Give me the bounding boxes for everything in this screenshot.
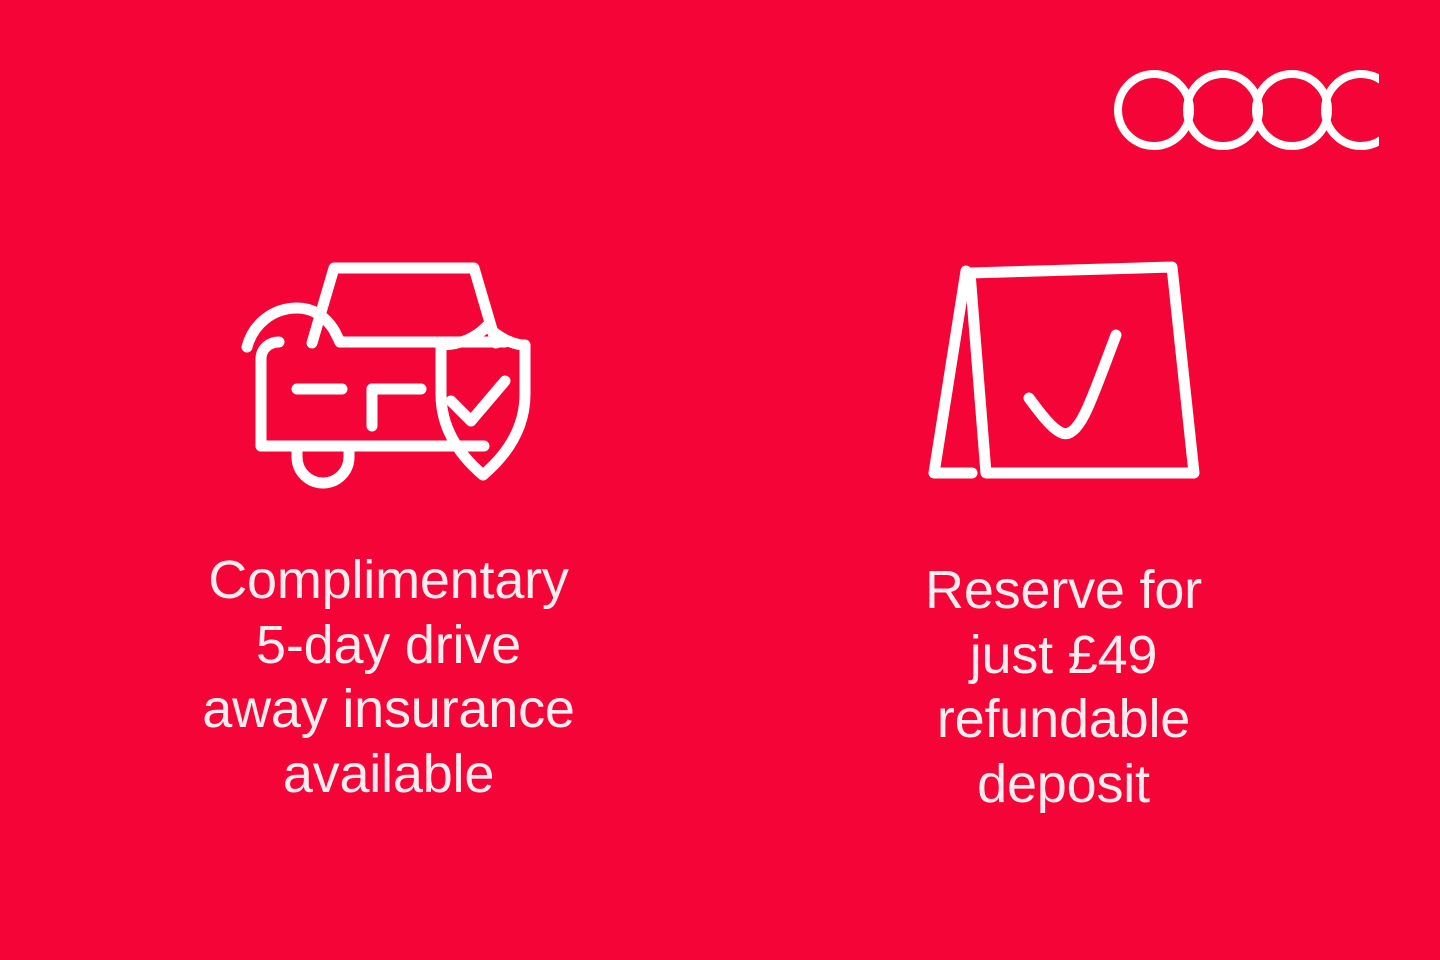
car-shield-insurance-icon (239, 244, 539, 490)
feature-list: Complimentary 5-day drive away insurance… (0, 0, 1440, 960)
folded-card-checkmark-icon (926, 250, 1202, 496)
feature-item: Reserve for just £49 refundable deposit (829, 0, 1299, 816)
feature-item: Complimentary 5-day drive away insurance… (154, 0, 624, 806)
promo-banner: Complimentary 5-day drive away insurance… (0, 0, 1440, 960)
feature-caption: Reserve for just £49 refundable deposit (925, 558, 1202, 816)
feature-caption: Complimentary 5-day drive away insurance… (202, 548, 574, 806)
